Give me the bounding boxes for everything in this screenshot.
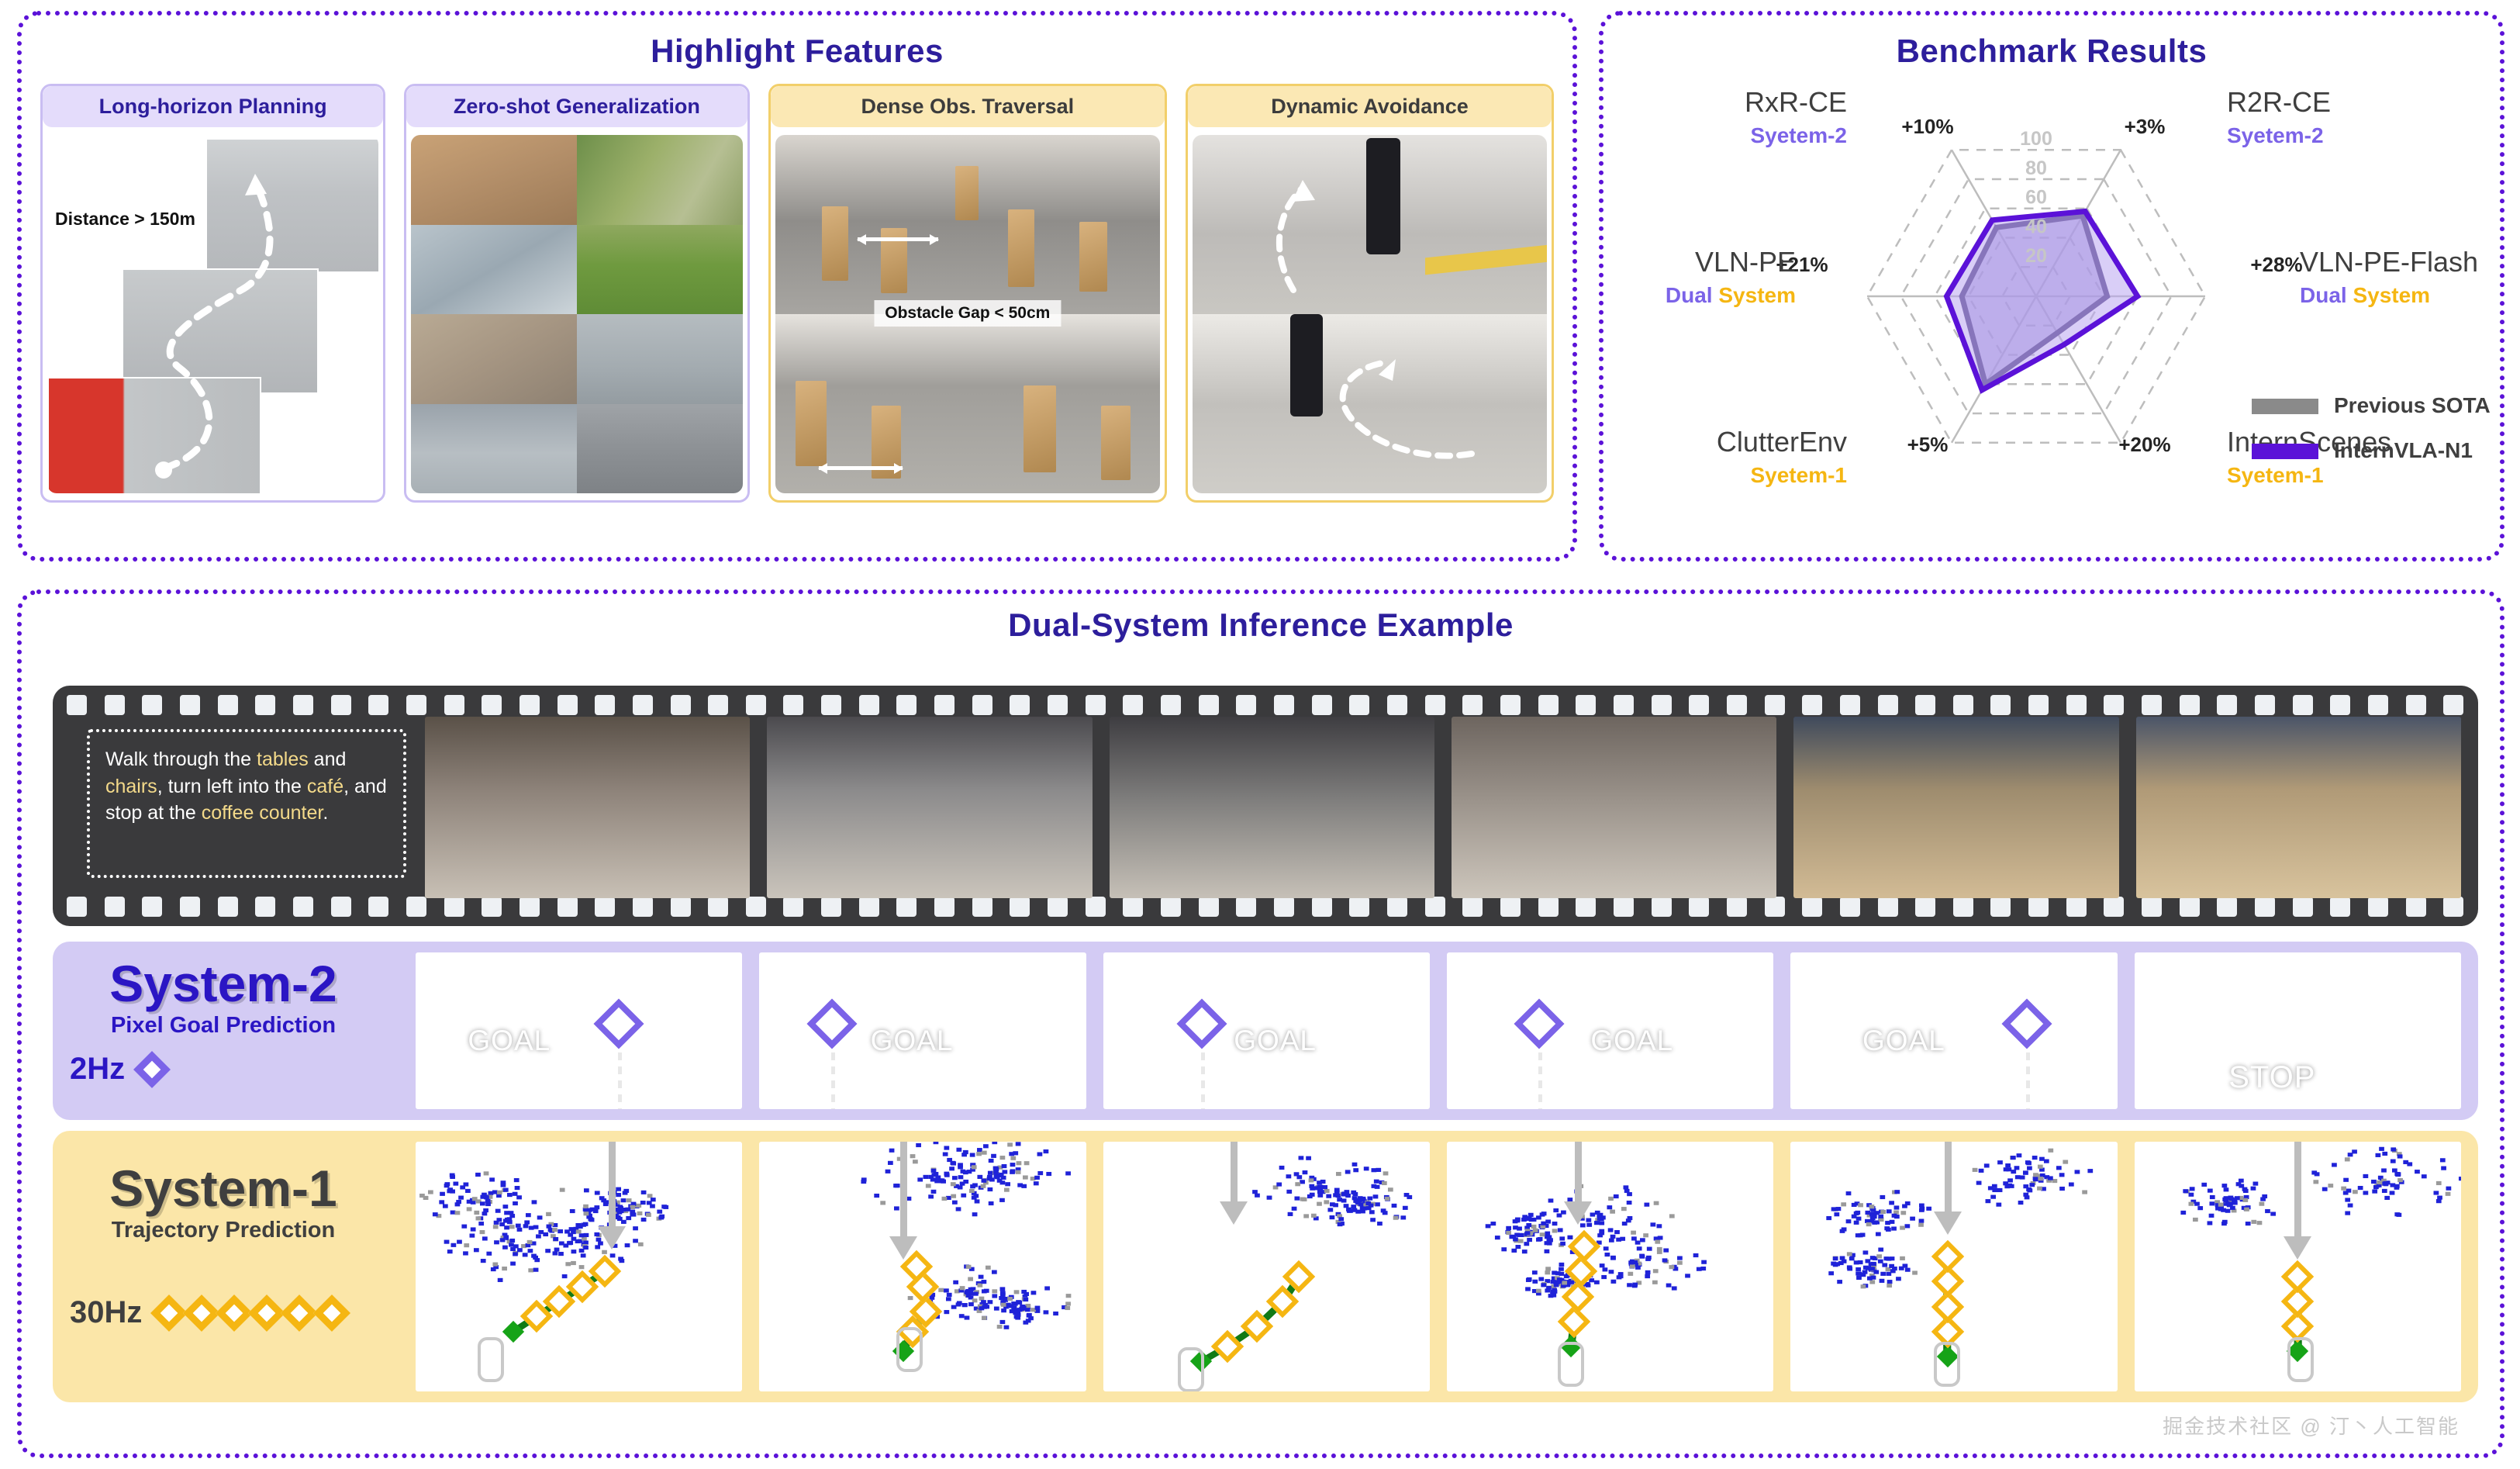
point-cloud-point [1650, 1222, 1655, 1226]
point-cloud-point [1000, 1287, 1006, 1291]
point-cloud-point [992, 1289, 998, 1293]
point-cloud-point [1986, 1199, 1991, 1203]
point-cloud-point [460, 1185, 465, 1189]
point-cloud-point [547, 1225, 552, 1229]
point-cloud-point [1603, 1267, 1608, 1271]
point-cloud-point [651, 1198, 656, 1201]
perforation [1765, 695, 1785, 715]
point-cloud-point [615, 1208, 620, 1211]
point-cloud-point [1515, 1245, 1521, 1249]
series-internvla-n1 [1947, 212, 2138, 390]
filmstrip-frame [1793, 717, 2118, 898]
point-cloud-point [1892, 1226, 1897, 1230]
point-cloud-point [958, 1163, 963, 1167]
perforation [1614, 897, 1634, 917]
radar-gain-label: +3% [2125, 115, 2166, 138]
goal-link-arrow [889, 1236, 917, 1260]
point-cloud-point [910, 1154, 916, 1158]
point-cloud-point [906, 1197, 912, 1201]
point-cloud-point [1610, 1280, 1616, 1284]
point-cloud-point [2392, 1168, 2397, 1172]
point-cloud-point [1300, 1180, 1305, 1184]
point-cloud-point [1836, 1207, 1842, 1211]
perforation [896, 695, 917, 715]
point-cloud-point [1008, 1297, 1013, 1301]
point-cloud-point [951, 1194, 957, 1198]
filmstrip: Walk through the tables and chairs, turn… [53, 686, 2478, 926]
point-cloud-point [1374, 1180, 1379, 1184]
feature-card-label: Zero-shot Generalization [406, 86, 747, 127]
point-cloud-point [1294, 1197, 1300, 1201]
point-cloud-point [1622, 1222, 1628, 1225]
point-cloud-point [2088, 1169, 2094, 1173]
perforation [1048, 897, 1068, 917]
goal-link-stem [900, 1142, 907, 1236]
point-cloud-point [2396, 1213, 2401, 1217]
point-cloud-point [543, 1232, 548, 1236]
point-cloud-point [989, 1159, 994, 1163]
point-cloud-point [2027, 1167, 2032, 1170]
feature-card-dynamic-avoidance[interactable]: Dynamic Avoidance [1186, 84, 1554, 503]
system-2-frame[interactable]: GOAL [416, 952, 742, 1109]
goal-link-stem [609, 1142, 616, 1226]
zs-tile-bamboo-path [577, 135, 743, 225]
point-cloud-point [1559, 1263, 1564, 1267]
point-cloud-point [2197, 1206, 2203, 1210]
perforation [1086, 897, 1106, 917]
point-cloud-point [509, 1225, 515, 1229]
point-cloud-point [1302, 1170, 1307, 1174]
point-cloud-point [1393, 1216, 1398, 1220]
point-cloud-point [2038, 1165, 2043, 1169]
point-cloud-point [1301, 1198, 1307, 1201]
system-2-subtitle: Pixel Goal Prediction [53, 1013, 394, 1039]
point-cloud-point [1372, 1194, 1378, 1198]
point-cloud-point [954, 1281, 959, 1284]
point-cloud-point [2397, 1178, 2403, 1182]
point-cloud-point [1601, 1275, 1607, 1279]
point-cloud-point [956, 1302, 961, 1306]
point-cloud-point [1890, 1201, 1895, 1205]
point-cloud-point [2256, 1221, 2262, 1225]
point-cloud-point [2028, 1188, 2033, 1192]
point-cloud-point [1861, 1284, 1866, 1288]
point-cloud-point [978, 1284, 983, 1288]
point-cloud-point [2446, 1187, 2451, 1191]
feature-card-label: Dynamic Avoidance [1188, 86, 1552, 127]
point-cloud-point [2039, 1157, 2045, 1161]
point-cloud-point [494, 1240, 499, 1244]
point-cloud-point [2436, 1199, 2442, 1203]
point-cloud-point [2260, 1197, 2266, 1201]
point-cloud-point [1006, 1182, 1011, 1186]
perforation [2028, 897, 2049, 917]
point-cloud-point [516, 1195, 522, 1199]
point-cloud-point [447, 1250, 453, 1253]
point-cloud-point [1002, 1164, 1007, 1168]
point-cloud-point [923, 1175, 929, 1179]
point-cloud-point [2345, 1211, 2350, 1215]
perforation [520, 897, 540, 917]
system-2-rate: 2Hz [70, 1052, 125, 1087]
point-cloud-point [997, 1325, 1003, 1329]
legend-label-previous-sota: Previous SOTA [2334, 393, 2491, 417]
point-cloud-point [1526, 1223, 1531, 1227]
point-cloud-point [1663, 1248, 1669, 1252]
feature-cards-row: Long-horizon Planning Distance > 150m Ze… [22, 70, 1572, 503]
point-cloud-point [1835, 1212, 1840, 1216]
perforation [783, 695, 803, 715]
perforation [406, 695, 426, 715]
instruction-text-part: Walk through the [105, 748, 257, 770]
point-cloud-point [2208, 1214, 2214, 1218]
point-cloud-point [571, 1237, 577, 1241]
system-2-frame[interactable]: GOAL [1447, 952, 1773, 1109]
point-cloud-point [527, 1240, 533, 1244]
point-cloud-point [502, 1205, 508, 1208]
point-cloud-point [571, 1250, 577, 1253]
point-cloud-point [939, 1179, 944, 1183]
point-cloud-point [2270, 1211, 2276, 1215]
point-cloud-point [2221, 1184, 2227, 1187]
goal-label: GOAL [468, 1025, 551, 1057]
point-cloud-point [2014, 1166, 2020, 1170]
feature-card-long-horizon-planning[interactable]: Long-horizon Planning Distance > 150m [40, 84, 385, 503]
point-cloud-point [1047, 1172, 1052, 1176]
trajectory-dash-path [47, 135, 378, 493]
point-cloud-point [999, 1198, 1005, 1202]
point-cloud-point [2007, 1178, 2013, 1182]
radar-axis-subtitle: Syetem-2 [2227, 123, 2324, 147]
point-cloud-point [978, 1175, 983, 1179]
point-cloud-point [1008, 1142, 1013, 1146]
point-cloud-point [1640, 1238, 1645, 1242]
point-cloud-point [526, 1213, 531, 1217]
instruction-highlight: café [307, 776, 343, 797]
perforation [558, 897, 578, 917]
point-cloud-point [1558, 1228, 1563, 1232]
point-cloud-point [1311, 1214, 1317, 1218]
point-cloud-point [931, 1190, 937, 1194]
goal-label: GOAL [1590, 1025, 1673, 1057]
point-cloud-point [657, 1210, 662, 1214]
point-cloud-point [1371, 1168, 1376, 1172]
point-cloud-point [967, 1170, 972, 1173]
system-1-frames [416, 1142, 2461, 1391]
radar-gain-label: +20% [2118, 433, 2170, 456]
perforation [142, 897, 162, 917]
point-cloud-point [1871, 1262, 1876, 1266]
perforation [444, 695, 464, 715]
point-cloud-point [1886, 1228, 1891, 1232]
point-cloud-point [1506, 1226, 1511, 1230]
point-cloud-point [1863, 1250, 1869, 1254]
point-cloud-point [2024, 1193, 2029, 1197]
point-cloud-point [497, 1191, 502, 1194]
point-cloud-point [2180, 1211, 2186, 1215]
point-cloud-point [583, 1222, 589, 1226]
perforation [633, 897, 653, 917]
perforation [896, 897, 917, 917]
point-cloud-point [1902, 1205, 1907, 1208]
point-cloud-point [1677, 1256, 1683, 1260]
radar-axis-label: RxR-CE [1745, 86, 1847, 118]
perforation [255, 897, 275, 917]
system-1-frame[interactable] [1790, 1142, 2117, 1391]
feature-card-label: Dense Obs. Traversal [771, 86, 1165, 127]
perforation [1878, 695, 1898, 715]
system-2-frame[interactable]: STOP [2135, 952, 2461, 1109]
goal-link-stem [1231, 1142, 1238, 1201]
perforation [293, 695, 313, 715]
point-cloud-point [1031, 1291, 1037, 1294]
point-cloud-point [528, 1268, 533, 1272]
point-cloud-point [503, 1235, 509, 1239]
instruction-highlight: tables [257, 748, 309, 770]
point-cloud-point [1610, 1210, 1615, 1214]
point-cloud-point [2372, 1190, 2377, 1194]
point-cloud-point [1632, 1260, 1638, 1264]
radar-axis-subtitle: Syetem-1 [1750, 463, 1847, 487]
perforation [1500, 695, 1521, 715]
point-cloud-point [1541, 1222, 1546, 1225]
point-cloud-point [926, 1184, 931, 1187]
point-cloud-point [492, 1263, 498, 1267]
point-cloud-point [1899, 1267, 1904, 1270]
point-cloud-point [1883, 1263, 1888, 1267]
radar-axis-subtitle: Dual System [1666, 283, 1796, 307]
point-cloud-point [1329, 1215, 1334, 1219]
perforation [1765, 897, 1785, 917]
point-cloud-point [1984, 1163, 1990, 1167]
perforation [105, 695, 125, 715]
feature-card-label: Long-horizon Planning [43, 86, 383, 127]
highlight-features-panel: Highlight Features Long-horizon Planning… [17, 11, 1577, 562]
benchmark-results-panel: Benchmark Results 20406080100 +3%+28%+20… [1599, 11, 2504, 562]
point-cloud-point [885, 1170, 891, 1173]
perforation [218, 897, 238, 917]
point-cloud-point [1035, 1176, 1041, 1180]
point-cloud-point [513, 1192, 518, 1196]
zs-tile-glass-atrium [411, 225, 577, 315]
point-cloud-point [1645, 1270, 1651, 1274]
point-cloud-point [1852, 1203, 1857, 1207]
distance-annotation: Distance > 150m [55, 209, 195, 230]
point-cloud-point [1014, 1290, 1020, 1294]
perforation [1915, 897, 1935, 917]
point-cloud-point [1624, 1189, 1630, 1193]
dense-photo-bottom [775, 314, 1161, 493]
perforation [1161, 695, 1181, 715]
point-cloud-point [470, 1233, 475, 1237]
obstacle-gap-annotation: Obstacle Gap < 50cm [874, 300, 1061, 327]
point-cloud-point [1252, 1190, 1258, 1194]
radar-tick-label: 40 [2025, 216, 2047, 237]
robot-footprint [1558, 1342, 1584, 1387]
system-2-frame[interactable]: GOAL [1790, 952, 2117, 1109]
point-cloud-point [1548, 1198, 1554, 1202]
point-cloud-point [626, 1216, 631, 1220]
point-cloud-point [1010, 1163, 1016, 1167]
point-cloud-point [1286, 1190, 1292, 1194]
perforation [1953, 695, 1973, 715]
system-1-frame[interactable] [1447, 1142, 1773, 1391]
system-1-frame[interactable] [1103, 1142, 1430, 1391]
point-cloud-point [545, 1249, 551, 1253]
point-cloud-point [471, 1227, 476, 1231]
point-cloud-point [619, 1259, 624, 1263]
point-cloud-point [501, 1183, 506, 1187]
point-cloud-point [946, 1297, 951, 1301]
point-cloud-point [1855, 1233, 1861, 1237]
point-cloud-point [2347, 1204, 2353, 1208]
goal-diamond-icon [594, 998, 644, 1049]
point-cloud-point [994, 1307, 999, 1311]
point-cloud-point [1552, 1229, 1558, 1232]
point-cloud-point [1854, 1211, 1859, 1215]
perforation [2142, 897, 2162, 917]
point-cloud-point [1529, 1218, 1534, 1222]
perforation [1010, 897, 1030, 917]
point-cloud-point [1847, 1252, 1852, 1256]
point-cloud-point [1901, 1211, 1907, 1215]
point-cloud-point [944, 1172, 950, 1176]
zs-tile-plaza [577, 314, 743, 404]
point-cloud-point [621, 1220, 627, 1224]
long-horizon-collage: Distance > 150m [47, 135, 378, 493]
point-cloud-point [1003, 1170, 1008, 1173]
goal-diamond-icon [2001, 998, 2052, 1049]
point-cloud-point [1846, 1191, 1852, 1195]
point-cloud-point [972, 1165, 977, 1169]
stop-label: STOP [2228, 1060, 2315, 1095]
perforation [1538, 695, 1559, 715]
perforation [482, 695, 502, 715]
dynamic-avoidance-photos [1193, 135, 1547, 493]
point-cloud-point [2059, 1187, 2065, 1191]
point-cloud-point [893, 1184, 899, 1187]
point-cloud-point [536, 1234, 541, 1238]
perforation [67, 897, 87, 917]
point-cloud-point [1037, 1153, 1043, 1156]
system-1-frame[interactable] [759, 1142, 1086, 1391]
point-cloud-point [1890, 1269, 1896, 1273]
point-cloud-point [489, 1177, 495, 1181]
point-cloud-point [1545, 1267, 1551, 1270]
system-2-frame[interactable]: GOAL [759, 952, 1086, 1109]
point-cloud-point [956, 1207, 961, 1211]
point-cloud-point [861, 1177, 867, 1181]
system-1-frame[interactable] [416, 1142, 742, 1391]
system-1-frame[interactable] [2135, 1142, 2461, 1391]
point-cloud-point [1000, 1180, 1006, 1184]
point-cloud-point [509, 1243, 514, 1246]
point-cloud-point [1900, 1256, 1905, 1260]
instruction-text-part: . [323, 802, 328, 824]
point-cloud-point [1317, 1180, 1322, 1184]
point-cloud-point [1286, 1174, 1291, 1178]
point-cloud-point [981, 1300, 986, 1304]
point-cloud-point [1887, 1280, 1893, 1284]
point-cloud-point [930, 1177, 936, 1181]
perforation [2255, 695, 2275, 715]
point-cloud-point [2345, 1198, 2350, 1201]
robot-footprint [896, 1327, 923, 1372]
point-cloud-point [1044, 1149, 1049, 1153]
point-cloud-point [951, 1182, 956, 1186]
radar-gain-label: +5% [1907, 433, 1949, 456]
perforation [2217, 695, 2237, 715]
point-cloud-point [640, 1201, 646, 1205]
point-cloud-point [1066, 1301, 1072, 1305]
robot-footprint [2287, 1337, 2314, 1382]
point-cloud-point [2459, 1177, 2461, 1180]
point-cloud-point [1532, 1270, 1538, 1274]
point-cloud-point [1266, 1196, 1272, 1200]
point-cloud-point [1631, 1231, 1636, 1235]
radar-gain-label: +28% [2250, 253, 2302, 276]
perforation [1425, 897, 1445, 917]
point-cloud-point [562, 1274, 568, 1278]
point-cloud-point [1541, 1283, 1546, 1287]
point-cloud-point [943, 1153, 948, 1156]
perforation [1086, 695, 1106, 715]
radar-axis-label: VLN-PE-Flash [2300, 246, 2478, 278]
point-cloud-point [1559, 1272, 1564, 1276]
point-cloud-point [2030, 1183, 2035, 1187]
feature-card-zero-shot-generalization[interactable]: Zero-shot Generalization [404, 84, 749, 503]
filmstrip-frame [1110, 717, 1434, 898]
point-cloud-point [2210, 1195, 2215, 1199]
radar-tick-label: 100 [2020, 128, 2052, 150]
point-cloud-point [952, 1201, 958, 1205]
point-cloud-point [888, 1161, 893, 1165]
goal-diamond-icon [1514, 998, 1564, 1049]
point-cloud-point [986, 1266, 991, 1270]
radar-axis-label: ClutterEnv [1717, 426, 1847, 458]
point-cloud-point [1403, 1206, 1408, 1210]
perforation [2066, 695, 2087, 715]
point-cloud-point [467, 1200, 472, 1204]
point-cloud-point [558, 1252, 564, 1256]
point-cloud-point [1388, 1187, 1393, 1191]
perforation [821, 695, 841, 715]
point-cloud-point [2020, 1175, 2025, 1179]
point-cloud-point [428, 1190, 433, 1194]
feature-card-dense-obstacle-traversal[interactable]: Dense Obs. Traversal [768, 84, 1168, 503]
point-cloud-point [583, 1205, 589, 1208]
point-cloud-point [1011, 1156, 1017, 1160]
perforation [444, 897, 464, 917]
point-cloud-point [458, 1196, 464, 1200]
point-cloud-point [1360, 1197, 1365, 1201]
perforation [1614, 695, 1634, 715]
point-cloud-point [1002, 1308, 1007, 1312]
point-cloud-point [484, 1171, 489, 1175]
point-cloud-point [1997, 1160, 2003, 1164]
point-cloud-point [1355, 1201, 1361, 1205]
point-cloud-point [1603, 1246, 1609, 1250]
point-cloud-point [2063, 1160, 2069, 1164]
point-cloud-point [1669, 1265, 1674, 1269]
point-cloud-point [1894, 1205, 1900, 1209]
system-2-frame[interactable]: GOAL [1103, 952, 1430, 1109]
point-cloud-point [584, 1233, 589, 1237]
no-entry-icon [2325, 1056, 2366, 1098]
point-cloud-point [2397, 1154, 2402, 1158]
perforation [2293, 695, 2313, 715]
point-cloud-point [1403, 1193, 1409, 1197]
